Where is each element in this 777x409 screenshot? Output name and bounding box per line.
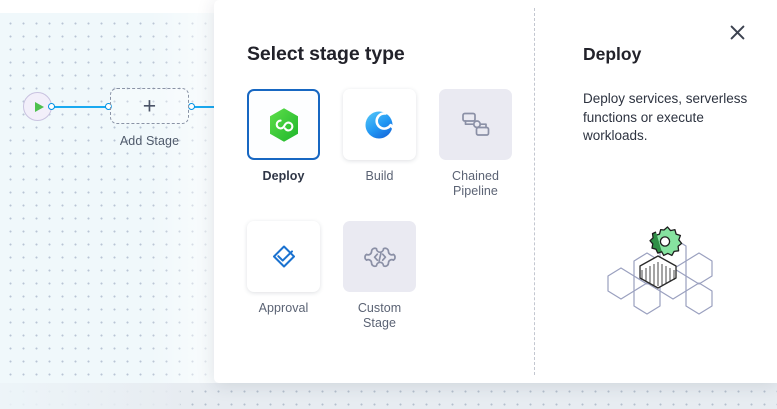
close-x-glyph xyxy=(730,25,745,40)
stage-type-option-chained-pipeline: Chained Pipeline xyxy=(439,89,512,199)
custom-stage-code-icon xyxy=(364,241,396,273)
chained-pipeline-tile xyxy=(439,89,512,160)
deploy-label: Deploy xyxy=(263,169,305,184)
build-label: Build xyxy=(365,169,393,184)
add-stage-node[interactable]: + xyxy=(110,88,189,124)
canvas-bottom-strip-fade xyxy=(0,383,180,409)
custom-stage-label: Custom Stage xyxy=(343,301,416,331)
chained-pipeline-label: Chained Pipeline xyxy=(439,169,512,199)
stage-type-row-1: Deploy xyxy=(247,89,517,199)
close-icon[interactable] xyxy=(724,19,750,45)
stage-type-option-deploy[interactable]: Deploy xyxy=(247,89,320,199)
play-icon xyxy=(35,102,44,112)
app-screen: + Add Stage Select stage type xyxy=(0,0,777,409)
detail-description: Deploy services, serverless functions or… xyxy=(583,90,753,146)
deploy-hexagon-icon xyxy=(267,107,301,143)
custom-stage-tile xyxy=(343,221,416,292)
approval-label: Approval xyxy=(259,301,309,316)
add-stage-label: Add Stage xyxy=(110,134,189,148)
stage-detail-pane: Deploy Deploy services, serverless funct… xyxy=(535,0,777,383)
page-title: Select stage type xyxy=(247,43,405,66)
connector-port-start[interactable] xyxy=(48,103,55,110)
approval-tile[interactable] xyxy=(247,221,320,292)
stage-type-option-custom-stage: Custom Stage xyxy=(343,221,416,331)
pipeline-edge-left xyxy=(54,106,106,108)
stage-type-picker-pane: Select stage type xyxy=(214,0,534,383)
build-sphere-icon xyxy=(363,108,397,142)
plus-icon: + xyxy=(143,95,156,118)
detail-title: Deploy xyxy=(583,44,641,65)
select-stage-type-modal: Select stage type xyxy=(214,0,777,383)
build-tile[interactable] xyxy=(343,89,416,160)
connector-port-out[interactable] xyxy=(188,103,195,110)
stage-type-grid: Deploy xyxy=(247,89,517,331)
approval-check-icon xyxy=(267,240,301,274)
stage-type-option-build[interactable]: Build xyxy=(343,89,416,199)
stage-type-option-approval[interactable]: Approval xyxy=(247,221,320,331)
chained-pipeline-icon xyxy=(460,110,492,140)
hexagon-grid-gears-illustration xyxy=(578,218,738,328)
deploy-tile[interactable] xyxy=(247,89,320,160)
stage-type-row-2: Approval xyxy=(247,221,517,331)
